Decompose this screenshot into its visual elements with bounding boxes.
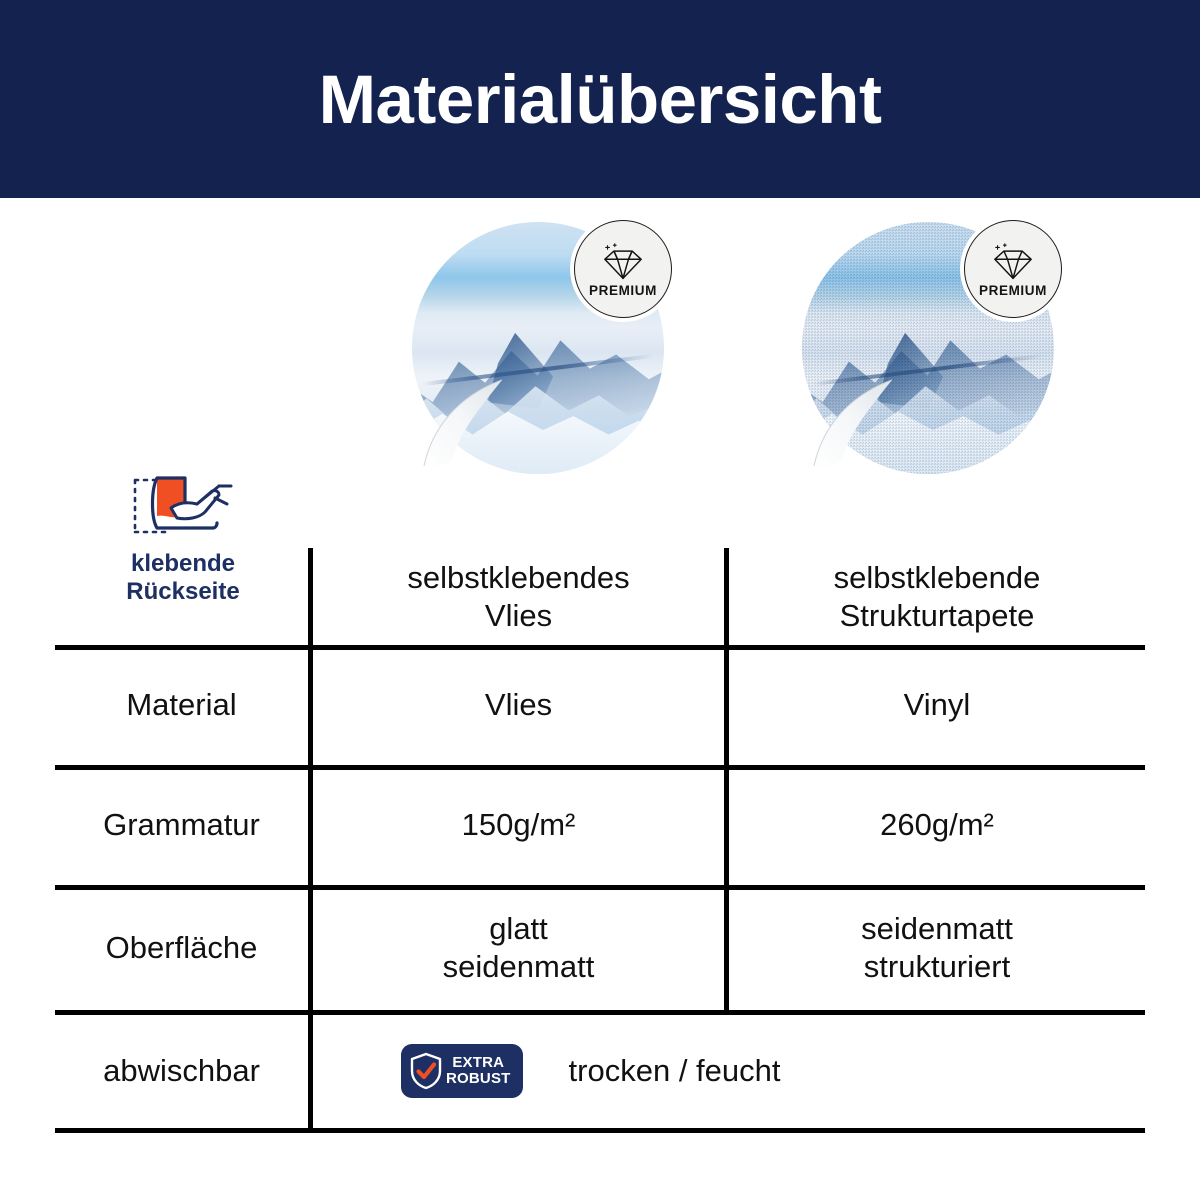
cell-material-struktur: Vinyl [729, 645, 1145, 765]
cell-grammatur-struktur: 260g/m² [729, 765, 1145, 885]
header-banner: Materialübersicht [0, 0, 1200, 198]
cell-oberflaeche-struktur-line1: seidenmatt [861, 910, 1013, 948]
material-sample-vlies[interactable]: PREMIUM [412, 222, 664, 474]
extra-robust-line1: EXTRA [446, 1055, 511, 1071]
cell-oberflaeche-vlies-line1: glatt [443, 910, 595, 948]
extra-robust-line2: ROBUST [446, 1071, 511, 1087]
cell-oberflaeche-struktur: seidenmatt strukturiert [729, 885, 1145, 1010]
shield-check-icon [409, 1052, 443, 1090]
cell-vlies-name-line1: selbstklebendes [407, 559, 629, 597]
table-row-label-abwischbar: abwischbar [55, 1010, 308, 1132]
table-row: selbstklebendes Vlies [313, 548, 724, 645]
cell-grammatur-vlies: 150g/m² [313, 765, 724, 885]
premium-badge-label: PREMIUM [979, 283, 1047, 298]
cell-material-vlies: Vlies [313, 645, 724, 765]
cell-abwischbar-value: EXTRA ROBUST trocken / feucht [313, 1010, 1145, 1132]
cell-vlies-name-line2: Vlies [407, 597, 629, 635]
cell-oberflaeche-vlies: glatt seidenmatt [313, 885, 724, 1010]
diamond-icon [601, 242, 645, 282]
material-sample-strukturtapete[interactable]: PREMIUM [802, 222, 1054, 474]
table-row-label-oberflaeche: Oberfläche [55, 885, 308, 1010]
material-spec-table: selbstklebendes Vlies selbstklebende Str… [55, 548, 1145, 1132]
table-row-label-grammatur: Grammatur [55, 765, 308, 885]
cell-struktur-name-line1: selbstklebende [834, 559, 1041, 597]
premium-badge-label: PREMIUM [589, 283, 657, 298]
diamond-icon [991, 242, 1035, 282]
cell-oberflaeche-vlies-line2: seidenmatt [443, 948, 595, 986]
cell-oberflaeche-struktur-line2: strukturiert [861, 948, 1013, 986]
material-samples-row: PREMIUM [0, 220, 1200, 480]
cell-struktur-name-line2: Strukturtapete [834, 597, 1041, 635]
table-row: selbstklebende Strukturtapete [729, 548, 1145, 645]
page-title: Materialübersicht [319, 65, 882, 134]
abwischbar-value-text: trocken / feucht [569, 1052, 781, 1090]
extra-robust-badge: EXTRA ROBUST [401, 1044, 523, 1098]
premium-badge-vlies: PREMIUM [574, 220, 672, 318]
premium-badge-strukturtapete: PREMIUM [964, 220, 1062, 318]
table-row-label-material: Material [55, 645, 308, 765]
peeling-sticker-icon [127, 470, 239, 542]
